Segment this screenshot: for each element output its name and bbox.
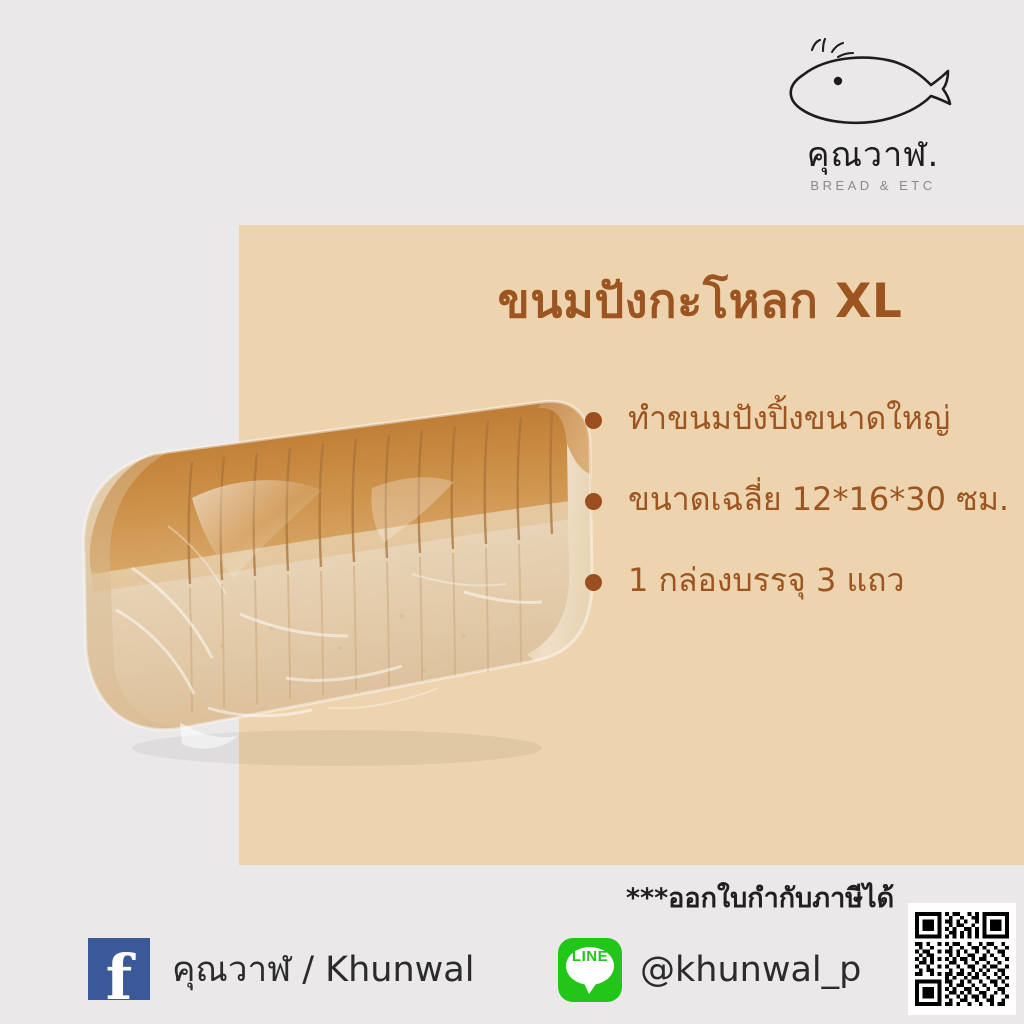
line-handle: @khunwal_p	[640, 950, 861, 990]
bullet-icon	[585, 574, 602, 591]
line-wordmark: LINE	[558, 949, 622, 964]
list-item: ขนาดเฉลี่ย 12*16*30 ซม.	[583, 479, 1024, 519]
facebook-icon[interactable]	[88, 938, 150, 1000]
feature-text: 1 กล่องบรรจุ 3 แถว	[628, 561, 904, 599]
brand-logo: คุณวาฬ. BREAD & ETC	[768, 38, 978, 188]
list-item: ทำขนมปังปิ้งขนาดใหญ่	[583, 398, 1024, 438]
brand-name-thai: คุณวาฬ.	[768, 138, 978, 172]
line-icon[interactable]: LINE	[558, 938, 622, 1002]
tax-invoice-note: ***ออกใบกำกับภาษีได้	[560, 876, 960, 919]
social-contact-row: คุณวาฬ / Khunwal LINE @khunwal_p	[0, 938, 1024, 1014]
product-photo-bread	[72, 378, 602, 778]
bullet-icon	[585, 412, 602, 429]
bullet-icon	[585, 493, 602, 510]
whale-icon	[768, 38, 978, 146]
facebook-contact[interactable]: คุณวาฬ / Khunwal	[88, 938, 474, 1000]
facebook-handle: คุณวาฬ / Khunwal	[172, 942, 474, 997]
brand-tagline: BREAD & ETC	[768, 178, 978, 193]
list-item: 1 กล่องบรรจุ 3 แถว	[583, 560, 1024, 600]
feature-text: ทำขนมปังปิ้งขนาดใหญ่	[628, 399, 950, 437]
advertisement-canvas: คุณวาฬ. BREAD & ETC ขนมปังกะโหลก XL	[0, 0, 1024, 1024]
product-title: ขนมปังกะโหลก XL	[420, 263, 980, 338]
line-contact[interactable]: LINE @khunwal_p	[558, 938, 861, 1002]
feature-text: ขนาดเฉลี่ย 12*16*30 ซม.	[628, 480, 1009, 518]
product-feature-list: ทำขนมปังปิ้งขนาดใหญ่ ขนาดเฉลี่ย 12*16*30…	[583, 398, 1024, 641]
